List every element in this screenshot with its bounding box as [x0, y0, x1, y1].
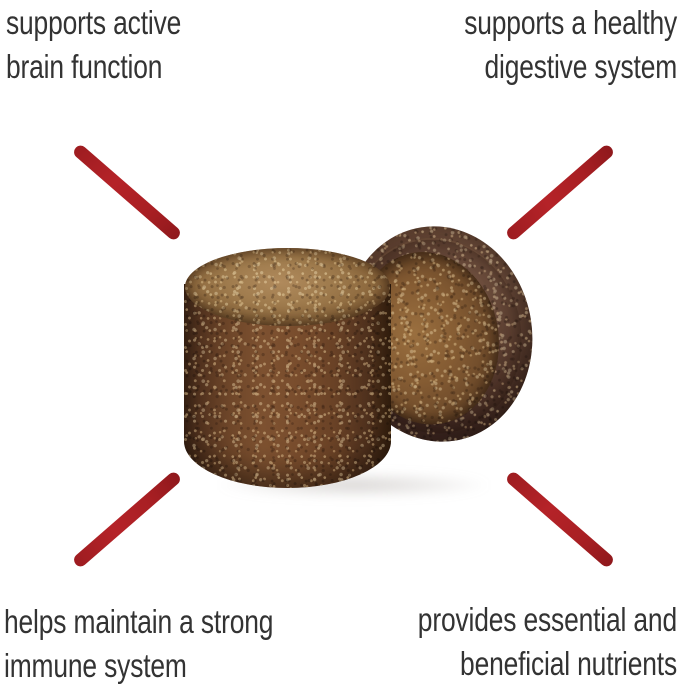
- tablet-front-top-face: [185, 248, 390, 326]
- tablet-back-face-speckle-dark: [343, 241, 511, 434]
- tablet-back-granular-face: [343, 241, 511, 434]
- tablet-front-side-speckle-light: [184, 284, 391, 488]
- diagonal-pointer-top-left-icon: [71, 143, 182, 242]
- diagonal-pointer-top-right-icon: [504, 143, 615, 242]
- benefit-caption-brain-function: supports active brain function: [6, 1, 181, 89]
- tablet-front-top-speckle-light: [185, 248, 390, 326]
- tablet-back-speckle-dark: [328, 213, 547, 456]
- tablet-front-side-wall: [184, 284, 391, 488]
- tablet-back-body: [328, 213, 547, 456]
- benefit-caption-digestive-system: supports a healthy digestive system: [464, 1, 677, 89]
- benefit-caption-immune-system: helps maintain a strong immune system: [4, 600, 273, 685]
- tablet-front-top-rim: [185, 248, 390, 326]
- tablet-back-rim: [334, 225, 536, 446]
- tablet-front-top-speckle-dark: [185, 248, 390, 326]
- tablet-front: [184, 248, 391, 488]
- diagonal-pointer-bottom-right-icon: [504, 470, 615, 569]
- product-contact-shadow: [178, 468, 530, 502]
- tablet-back-face-speckle-light: [343, 241, 511, 434]
- benefit-caption-essential-nutrients: provides essential and beneficial nutrie…: [418, 598, 677, 685]
- product-photo: [0, 0, 679, 685]
- infographic-canvas: supports active brain function supports …: [0, 0, 679, 685]
- tablet-back-speckle-light: [328, 213, 547, 456]
- tablet-front-side-speckle-dark: [184, 284, 391, 488]
- diagonal-pointer-bottom-left-icon: [71, 470, 182, 569]
- tablet-back: [328, 213, 547, 456]
